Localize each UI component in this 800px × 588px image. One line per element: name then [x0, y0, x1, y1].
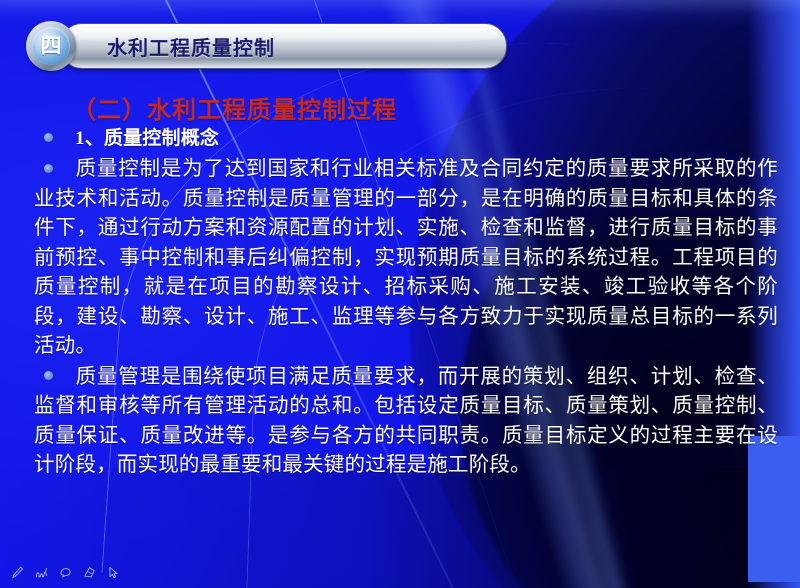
section-number-badge-inner: 四 [32, 27, 70, 65]
bullet-text: 1、质量控制概念 [75, 128, 219, 149]
pen-icon[interactable] [8, 563, 27, 582]
bullet-item: 质量管理是围绕使项目满足质量要求，而开展的策划、组织、计划、检查、监督和审核等所… [34, 363, 778, 481]
scribble-icon[interactable] [32, 563, 51, 582]
presentation-slide: 四 水利工程质量控制 （二）水利工程质量控制过程 1、质量控制概念 质量控制是为… [0, 0, 800, 588]
section-number-label: 四 [41, 36, 62, 57]
slide-header: 四 水利工程质量控制 [26, 21, 507, 71]
annotation-toolbar[interactable] [8, 563, 123, 582]
section-number-badge: 四 [26, 21, 76, 71]
slide-title-bar: 水利工程质量控制 [60, 23, 507, 69]
section-heading: （二）水利工程质量控制过程 [72, 90, 397, 125]
bullet-dot-icon [44, 371, 53, 380]
slide-title: 水利工程质量控制 [107, 32, 275, 61]
bullet-text: 质量管理是围绕使项目满足质量要求，而开展的策划、组织、计划、检查、监督和审核等所… [34, 366, 778, 477]
highlighter-icon[interactable] [56, 563, 75, 582]
bullet-dot-icon [44, 164, 53, 173]
slide-body: 1、质量控制概念 质量控制是为了达到国家和行业相关标准及合同约定的质量要求所采取… [34, 124, 778, 481]
bullet-text: 质量控制是为了达到国家和行业相关标准及合同约定的质量要求所采取的作业技术和活动。… [34, 158, 778, 357]
pointer-icon[interactable] [104, 563, 123, 582]
bullet-dot-icon [44, 133, 53, 142]
bullet-item: 质量控制是为了达到国家和行业相关标准及合同约定的质量要求所采取的作业技术和活动。… [34, 155, 778, 362]
bullet-item: 1、质量控制概念 [34, 124, 778, 154]
eraser-icon[interactable] [80, 563, 99, 582]
